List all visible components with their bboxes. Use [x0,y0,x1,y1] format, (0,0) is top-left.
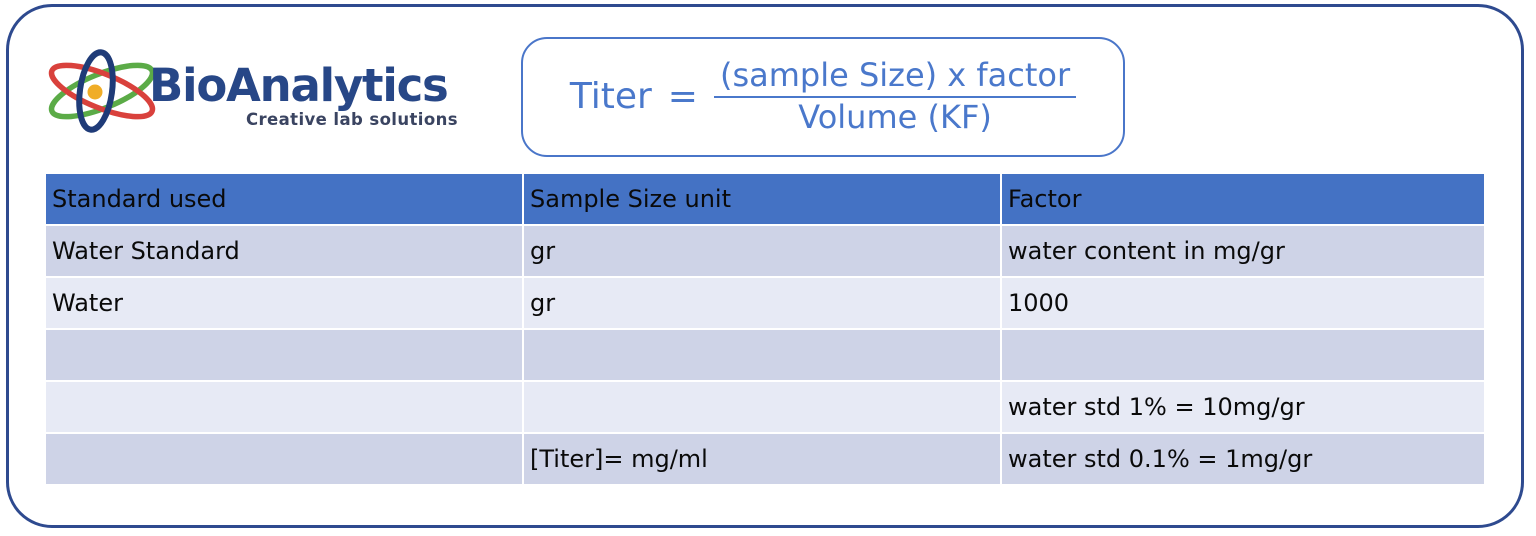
slide-card: BioAnalytics Creative lab solutions Tite… [6,4,1524,528]
table-row [46,330,1484,382]
table-row: Water gr 1000 [46,278,1484,330]
formula-fraction: (sample Size) x factor Volume (KF) [714,59,1076,134]
cell-standard-used: Water [46,278,524,330]
titer-formula-box: Titer = (sample Size) x factor Volume (K… [521,37,1125,157]
cell-sample-size-unit [524,330,1002,382]
cell-factor: 1000 [1002,278,1484,330]
cell-standard-used [46,434,524,484]
brand-logo: BioAnalytics Creative lab solutions [43,47,423,143]
column-header-standard-used: Standard used [46,174,524,226]
cell-sample-size-unit: [Titer]= mg/ml [524,434,1002,484]
formula-denominator: Volume (KF) [792,98,998,134]
cell-standard-used: Water Standard [46,226,524,278]
table-header-row: Standard used Sample Size unit Factor [46,174,1484,226]
logo-wordmark: BioAnalytics [149,59,448,112]
formula-equals-sign: = [668,79,698,115]
cell-factor [1002,330,1484,382]
formula-left-side: Titer [570,79,652,115]
column-header-factor: Factor [1002,174,1484,226]
cell-standard-used [46,330,524,382]
formula-content: Titer = (sample Size) x factor Volume (K… [523,39,1123,155]
cell-factor: water content in mg/gr [1002,226,1484,278]
cell-sample-size-unit: gr [524,278,1002,330]
table-row: water std 1% = 10mg/gr [46,382,1484,434]
cell-sample-size-unit: gr [524,226,1002,278]
table-row: Water Standard gr water content in mg/gr [46,226,1484,278]
formula-numerator: (sample Size) x factor [714,59,1076,95]
cell-factor: water std 0.1% = 1mg/gr [1002,434,1484,484]
atom-logo-icon [43,49,161,133]
cell-factor: water std 1% = 10mg/gr [1002,382,1484,434]
cell-sample-size-unit [524,382,1002,434]
column-header-sample-size-unit: Sample Size unit [524,174,1002,226]
table-row: [Titer]= mg/ml water std 0.1% = 1mg/gr [46,434,1484,484]
logo-tagline: Creative lab solutions [246,110,458,129]
cell-standard-used [46,382,524,434]
standards-table: Standard used Sample Size unit Factor Wa… [46,174,1484,484]
